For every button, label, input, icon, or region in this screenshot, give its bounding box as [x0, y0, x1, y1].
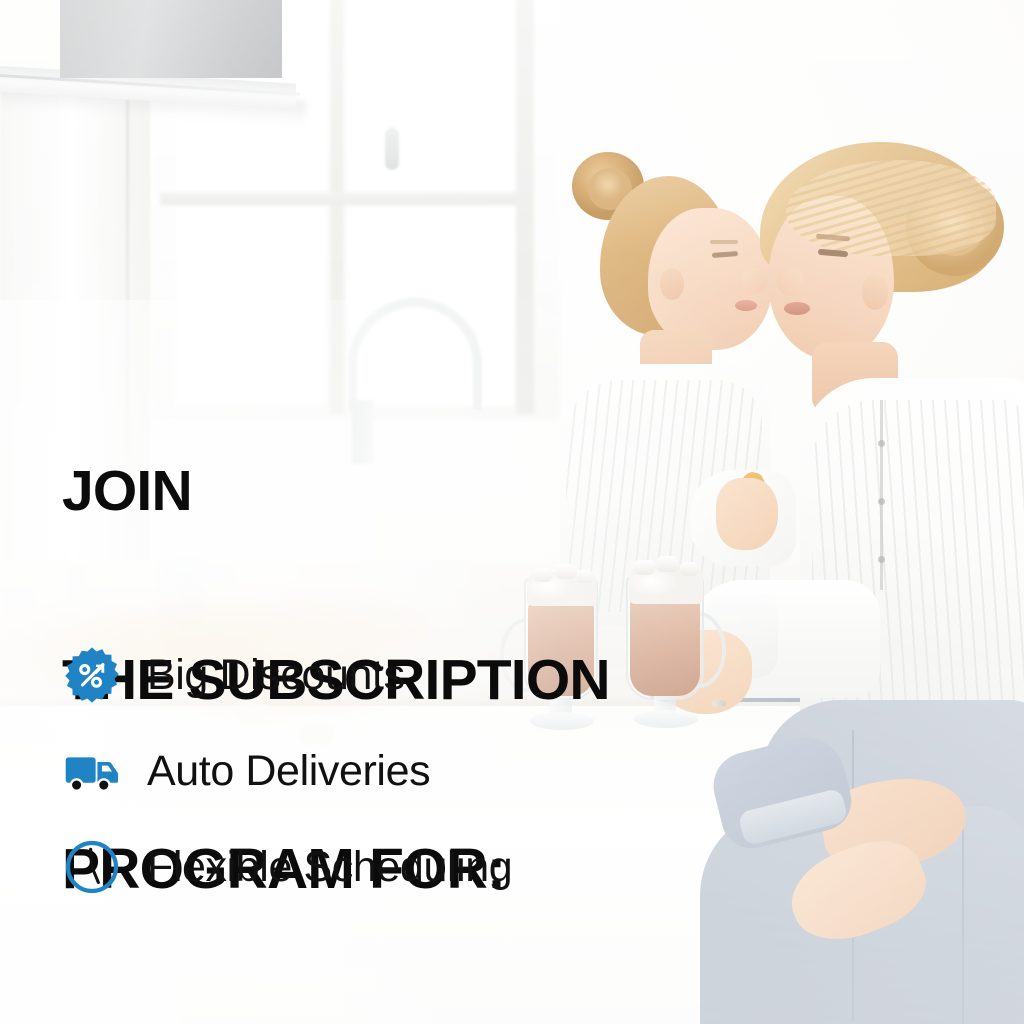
headline-line-1: JOIN: [62, 460, 610, 523]
subscription-promo-banner: JOIN THE SUBSCRIPTION PROGRAM FOR:: [0, 0, 1024, 1024]
feature-item-discounts: Big Discounts: [62, 645, 512, 705]
clock-icon: [62, 837, 122, 897]
delivery-truck-icon: [62, 741, 122, 801]
feature-label-discounts: Big Discounts: [147, 654, 405, 697]
feature-item-scheduling: Flexible Scheduling: [62, 837, 512, 897]
feature-label-deliveries: Auto Deliveries: [147, 750, 430, 793]
feature-list: Big Discounts Auto Deliveries: [62, 645, 512, 897]
promo-text-overlay: JOIN THE SUBSCRIPTION PROGRAM FOR:: [0, 0, 1024, 1024]
discount-badge-icon: [62, 645, 122, 705]
feature-item-deliveries: Auto Deliveries: [62, 741, 512, 801]
feature-label-scheduling: Flexible Scheduling: [147, 846, 512, 889]
